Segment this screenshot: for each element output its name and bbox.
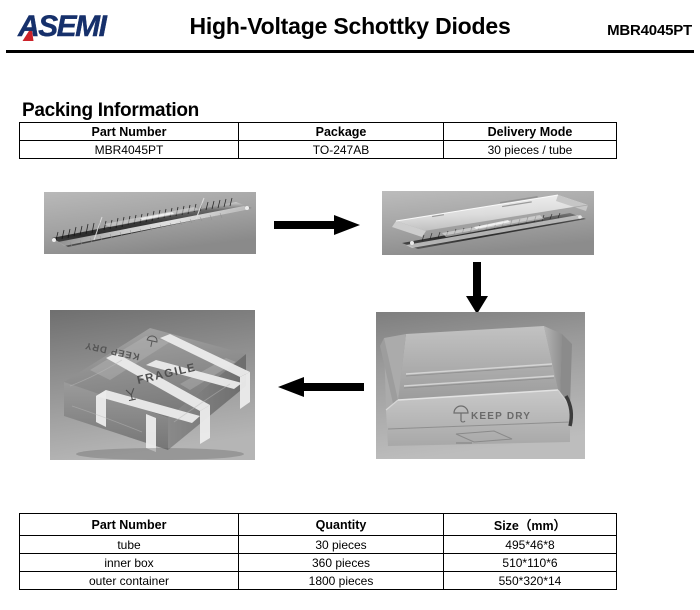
cell-quantity: 30 pieces [239, 536, 444, 554]
column-header-part-number: Part Number [20, 123, 239, 141]
cell-delivery-mode: 30 pieces / tube [444, 141, 617, 159]
header-part-number: MBR4045PT [607, 22, 692, 39]
column-header-delivery-mode: Delivery Mode [444, 123, 617, 141]
photo-empty-carton: KEEP DRY [376, 312, 585, 459]
column-header-package: Package [239, 123, 444, 141]
cell-size: 510*110*6 [444, 554, 617, 572]
table-header-row: Part Number Package Delivery Mode [20, 123, 617, 141]
cell-part-number: MBR4045PT [20, 141, 239, 159]
carton-keep-dry-label: KEEP DRY [84, 339, 141, 361]
column-header-part-number: Part Number [20, 514, 239, 536]
table-row: inner box 360 pieces 510*110*6 [20, 554, 617, 572]
column-header-size: Size（mm） [444, 514, 617, 536]
photo-sealed-carton: KEEP DRY FRAGILE [50, 310, 255, 460]
page-title: High-Voltage Schottky Diodes [0, 13, 700, 40]
table-row: tube 30 pieces 495*46*8 [20, 536, 617, 554]
cell-part-name: tube [20, 536, 239, 554]
photo-sealed-carton-graphic: KEEP DRY FRAGILE [50, 310, 255, 460]
carton-fragile-label: FRAGILE [136, 362, 197, 387]
photo-tube-labeled-graphic [382, 191, 594, 255]
page-header: ASEMI High-Voltage Schottky Diodes MBR40… [0, 0, 700, 52]
table-header-row: Part Number Quantity Size（mm） [20, 514, 617, 536]
cell-size: 550*320*14 [444, 572, 617, 590]
arrow-right-icon [274, 213, 360, 242]
table-row: outer container 1800 pieces 550*320*14 [20, 572, 617, 590]
arrow-down-icon [464, 262, 490, 319]
column-header-quantity: Quantity [239, 514, 444, 536]
carton-keep-dry-label: KEEP DRY [471, 411, 531, 422]
photo-tube-labeled [382, 191, 594, 255]
quantity-size-table: Part Number Quantity Size（mm） tube 30 pi… [19, 513, 617, 590]
cell-quantity: 1800 pieces [239, 572, 444, 590]
header-divider [6, 50, 694, 53]
arrow-left-icon [278, 375, 364, 404]
section-heading: Packing Information [22, 100, 199, 122]
cell-package: TO-247AB [239, 141, 444, 159]
cell-part-name: inner box [20, 554, 239, 572]
cell-part-name: outer container [20, 572, 239, 590]
packing-information-table: Part Number Package Delivery Mode MBR404… [19, 122, 617, 159]
cell-size: 495*46*8 [444, 536, 617, 554]
photo-tube-open [44, 192, 256, 254]
table-row: MBR4045PT TO-247AB 30 pieces / tube [20, 141, 617, 159]
photo-tube-open-graphic [44, 192, 256, 254]
photo-empty-carton-graphic: KEEP DRY [376, 312, 585, 459]
cell-quantity: 360 pieces [239, 554, 444, 572]
